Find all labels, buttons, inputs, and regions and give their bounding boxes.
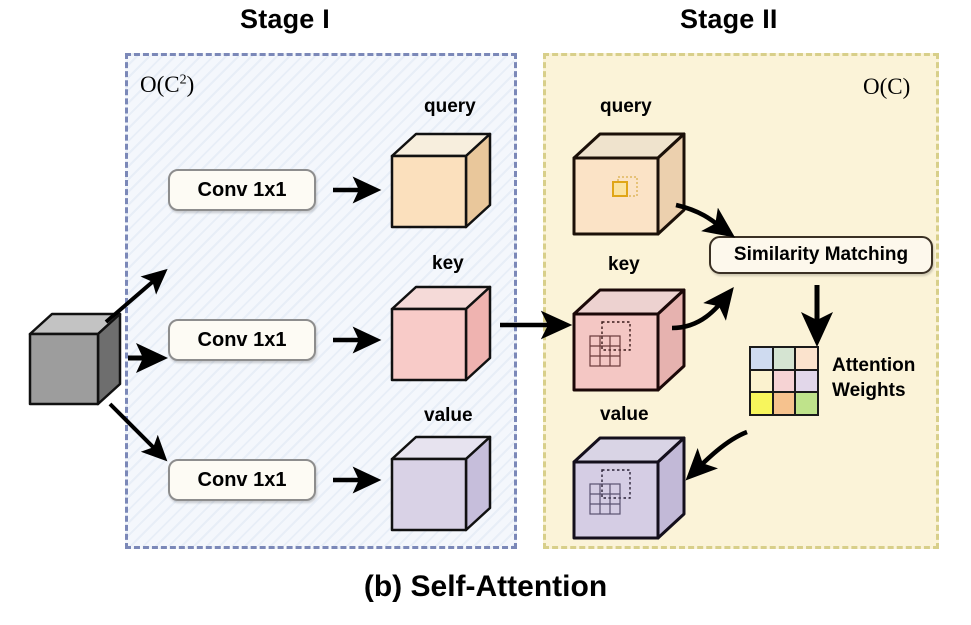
stage2-key-label: key [608,254,640,276]
conv-block-value-label: Conv 1x1 [198,469,287,492]
stage2-key-cube [568,284,690,396]
stage2-value-cube [568,432,690,544]
figure-canvas: Stage I Stage II O(C2) O(C) Conv 1x1 Con… [0,0,971,625]
stage1-key-cube [386,281,496,386]
attention-weights-grid [749,346,819,416]
conv-block-query-label: Conv 1x1 [198,179,287,202]
attention-cell-0-0 [751,348,772,369]
stage1-key-label: key [432,253,464,275]
stage1-key-cube-shape [386,281,496,386]
stage-two-complexity: O(C) [863,74,910,100]
stage2-query-label: query [600,96,652,118]
figure-caption: (b) Self-Attention [0,570,971,604]
attention-cell-1-1 [774,371,795,392]
stage-two-title: Stage II [680,4,778,35]
conv-block-query[interactable]: Conv 1x1 [168,169,316,211]
input-cube-shape [24,310,124,410]
stage-one-title: Stage I [240,4,330,35]
stage1-query-cube [386,128,496,233]
stage2-value-label: value [600,404,649,426]
stage2-query-cube [568,128,690,240]
stage2-query-cube-shape [568,128,690,240]
similarity-matching-label: Similarity Matching [734,244,908,266]
attention-weights-title-line1: Attention [832,355,915,377]
stage1-query-cube-shape [386,128,496,233]
stage1-value-cube [386,431,496,536]
attention-cell-2-2 [796,393,817,414]
input-feature-cube [24,310,124,410]
stage1-query-label: query [424,96,476,118]
stage2-key-cube-shape [568,284,690,396]
attention-cell-1-0 [751,371,772,392]
stage1-value-cube-shape [386,431,496,536]
conv-block-key-label: Conv 1x1 [198,329,287,352]
attention-cell-1-2 [796,371,817,392]
stage1-value-label: value [424,405,473,427]
similarity-matching-block[interactable]: Similarity Matching [709,236,933,274]
attention-cell-2-0 [751,393,772,414]
stage2-value-cube-shape [568,432,690,544]
complexity-prefix: O(C [140,72,180,97]
conv-block-value[interactable]: Conv 1x1 [168,459,316,501]
attention-weights-title-line2: Weights [832,380,906,402]
complexity-suffix: ) [187,72,195,97]
attention-cell-0-2 [796,348,817,369]
conv-block-key[interactable]: Conv 1x1 [168,319,316,361]
attention-cell-2-1 [774,393,795,414]
stage-one-complexity: O(C2) [140,72,194,98]
complexity-exponent: 2 [180,72,187,87]
attention-cell-0-1 [774,348,795,369]
